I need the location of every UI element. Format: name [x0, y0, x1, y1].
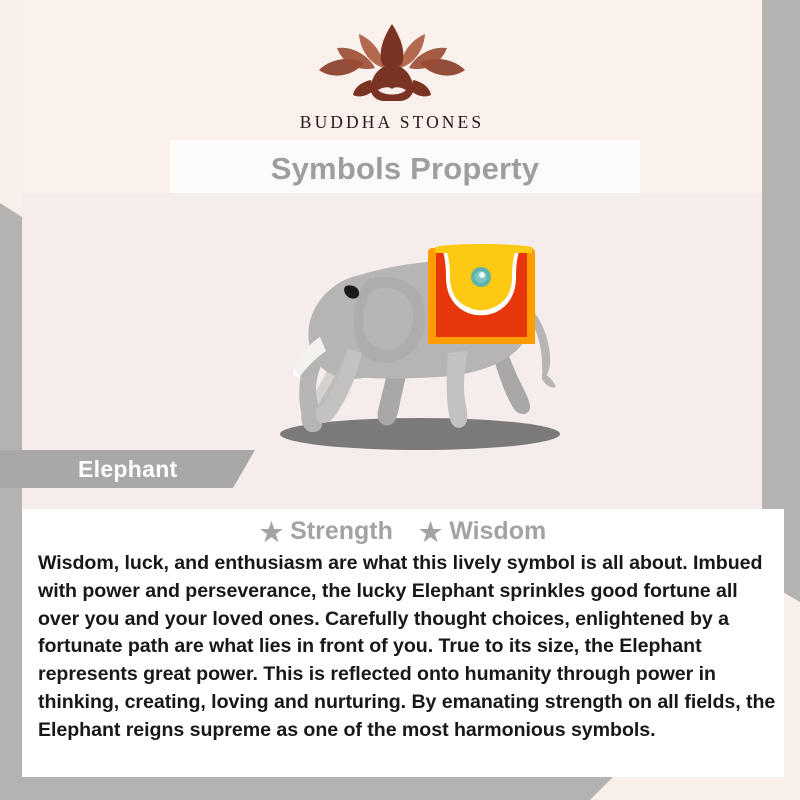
brand-name: BUDDHA STONES	[300, 112, 484, 133]
symbol-name: Elephant	[78, 456, 178, 483]
lotus-meditation-figure-logo-icon	[307, 18, 477, 110]
page-title-band: Symbols Property	[170, 140, 640, 197]
symbol-description-card: ★ Strength ★ Wisdom Wisdom, luck, and en…	[22, 509, 784, 777]
brand-logo: BUDDHA STONES	[22, 18, 762, 133]
frame-accent-bottom	[0, 775, 615, 800]
page-title: Symbols Property	[271, 151, 540, 187]
trait-list: ★ Strength ★ Wisdom	[22, 509, 784, 546]
trait-wisdom: ★ Wisdom	[419, 517, 546, 546]
symbol-name-ribbon: Elephant	[0, 450, 255, 488]
trait-label-wisdom: Wisdom	[449, 517, 546, 546]
star-icon: ★	[260, 519, 283, 545]
symbol-property-card: BUDDHA STONES Symbols Property	[0, 0, 800, 800]
trait-strength: ★ Strength	[260, 517, 393, 546]
frame-accent-left-lower	[0, 493, 22, 800]
trait-label-strength: Strength	[290, 517, 393, 546]
symbol-description-text: Wisdom, luck, and enthusiasm are what th…	[38, 550, 778, 745]
elephant-saddle	[428, 244, 535, 344]
elephant-illustration-icon	[242, 203, 592, 468]
star-icon: ★	[419, 519, 442, 545]
frame-accent-left-upper	[0, 203, 22, 493]
